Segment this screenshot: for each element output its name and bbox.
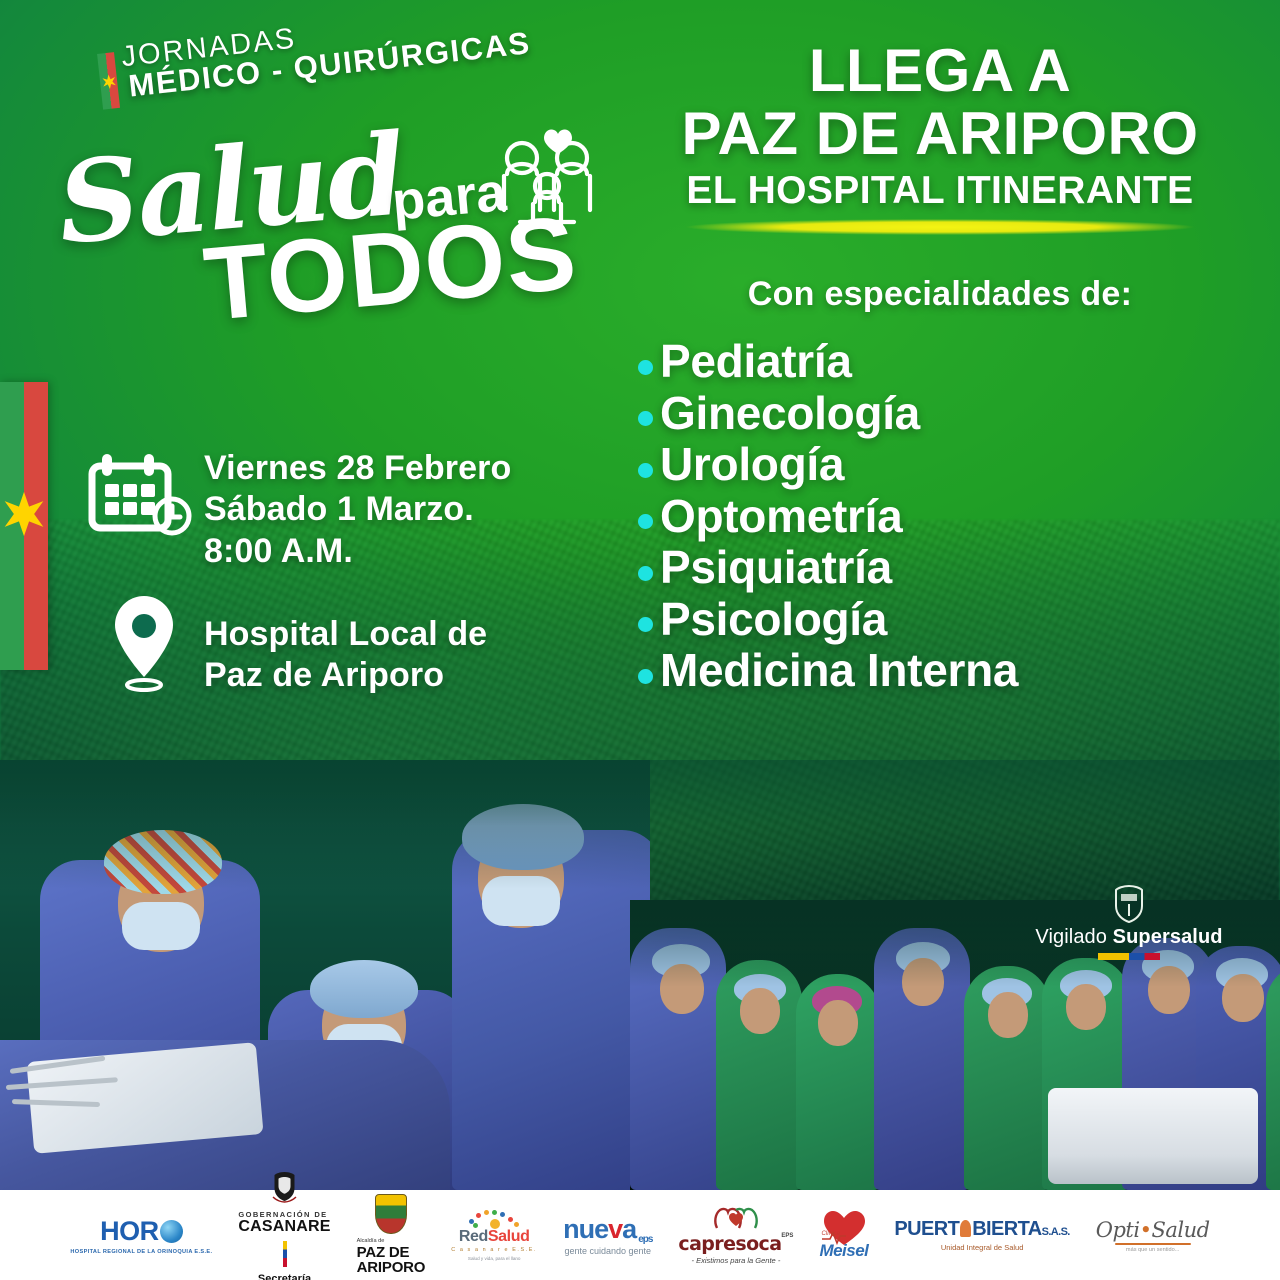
door-icon [960,1220,971,1237]
nueva-wordmark: nuevaeps [563,1214,652,1245]
logo-nueva-eps: nuevaeps gente cuidando gente [563,1214,652,1256]
location-pin-icon [84,590,204,694]
capresoca-hands-heart-icon [713,1206,759,1232]
horo-text: HOR [100,1216,159,1247]
logo-clinica-meisel: Clínica Meisel [819,1209,868,1261]
casanare-label: CASANARE [238,1219,330,1235]
colombia-divider-icon [283,1241,287,1267]
family-heart-icon [480,114,608,234]
redsalud-sub2: Salud y vida, para el llano [468,1256,521,1261]
nueva-eps-label: eps [638,1234,652,1245]
eight-point-star-small-icon [100,74,117,91]
specialty-item: Urología [632,439,1280,491]
capresoca-wordmark: capresoca [678,1233,781,1255]
logo-horo: HOR HOSPITAL REGIONAL DE LA ORINOQUIA E.… [70,1216,212,1255]
optisalud-underline [1115,1243,1191,1245]
event-place-line1: Hospital Local de [204,614,487,655]
puerta-sas: S.A.S. [1042,1226,1070,1238]
specialty-item: Medicina Interna [632,645,1280,697]
event-date-line3: 8:00 A.M. [204,531,511,572]
specialties-title: Con especialidades de: [620,275,1260,314]
casanare-crest-icon [271,1171,298,1205]
nueva-part1: nue [563,1214,608,1245]
logo-redsalud: RedSalud C a s a n a r e E.S.E. Salud y … [451,1210,537,1261]
optisalud-wordmark: Opti•Salud [1096,1218,1210,1242]
specialty-item: Psicología [632,594,1280,646]
opti-part1: Opti [1096,1218,1140,1242]
nueva-part2: a [622,1214,636,1245]
headline-line3: EL HOSPITAL ITINERANTE [620,170,1260,212]
optisalud-tagline: más que un sentido... [1126,1247,1180,1253]
headline-block: LLEGA A PAZ DE ARIPORO EL HOSPITAL ITINE… [620,40,1260,235]
colombia-coat-of-arms-icon [1112,884,1146,924]
capresoca-tagline: - Existimos para la Gente - [692,1256,781,1265]
surgery-photo [0,760,650,1190]
nueva-tagline: gente cuidando gente [564,1246,651,1256]
vigilado-strong: Supersalud [1113,926,1223,948]
logo-alcaldia-paz-de-ariporo: Alcaldía de PAZ DE ARIPORO [357,1194,426,1275]
secretaria-salud-label: Secretaría de Salud [258,1273,311,1280]
specialty-item: Optometría [632,491,1280,543]
casanare-flag-ribbon [0,382,48,670]
alcaldia-line2: ARIPORO [357,1260,426,1275]
puerta-part2: BIERTA [972,1218,1041,1241]
sponsor-logo-bar: HOR HOSPITAL REGIONAL DE LA ORINOQUIA E.… [0,1190,1280,1280]
horo-globe-icon [160,1220,183,1243]
redsalud-salud: Salud [488,1228,530,1245]
opti-dot: • [1140,1218,1152,1242]
logo-optisalud: Opti•Salud más que un sentido... [1096,1218,1210,1253]
redsalud-sub1: C a s a n a r e E.S.E. [451,1247,537,1253]
nueva-v: v [608,1214,622,1245]
specialties-list: Pediatría Ginecología Urología Optometrí… [632,336,1280,697]
event-date-text: Viernes 28 Febrero Sábado 1 Marzo. 8:00 … [204,444,511,572]
specialty-item: Pediatría [632,336,1280,388]
logo-gobernacion-casanare: GOBERNACIÓN DE CASANARE Secretaría de Sa… [238,1171,330,1280]
event-date-line2: Sábado 1 Marzo. [204,489,511,530]
puerta-part1: PUERT [894,1218,959,1241]
poster-canvas: JORNADAS MÉDICO - QUIRÚRGICAS Salud para… [0,0,1280,1280]
event-place-line2: Paz de Ariporo [204,655,487,696]
horo-subtitle: HOSPITAL REGIONAL DE LA ORINOQUIA E.S.E. [70,1249,212,1255]
vigilado-supersalud-badge: Vigilado Supersalud [1014,884,1244,960]
calendar-clock-icon [84,444,204,548]
logo-puerta-abierta: PUERTBIERTAS.A.S. Unidad Integral de Sal… [894,1218,1069,1252]
event-date-line1: Viernes 28 Febrero [204,448,511,489]
alcaldia-shield-icon [375,1194,407,1234]
colombia-flag-stripe-icon [1098,953,1160,960]
eight-point-star-icon [1,491,47,537]
meisel-clinica-label: Clínica [821,1231,839,1237]
medical-equipment [1048,1088,1258,1184]
vigilado-prefix: Vigilado [1035,926,1112,948]
secretaria-line1: Secretaría [258,1273,311,1280]
puerta-subtitle: Unidad Integral de Salud [941,1243,1024,1252]
photo-montage [0,760,1280,1190]
specialty-item: Psiquiatría [632,542,1280,594]
logo-capresoca: capresoca EPS - Existimos para la Gente … [678,1206,793,1265]
specialty-item: Ginecología [632,388,1280,440]
event-place-text: Hospital Local de Paz de Ariporo [204,590,487,697]
vigilado-text: Vigilado Supersalud [1014,926,1244,949]
headline-line2: PAZ DE ARIPORO [620,103,1260,165]
headline-line1: LLEGA A [620,40,1260,101]
horo-wordmark: HOR [100,1216,183,1247]
event-place-block: Hospital Local de Paz de Ariporo [84,590,624,697]
redsalud-burst-icon [467,1210,521,1228]
puertabierta-wordmark: PUERTBIERTAS.A.S. [894,1218,1069,1241]
event-date-block: Viernes 28 Febrero Sábado 1 Marzo. 8:00 … [84,444,624,572]
redsalud-red: Red [459,1228,488,1245]
salud-para-todos-logo: Salud para TODOS [40,118,620,328]
opti-part2: Salud [1151,1218,1209,1242]
yellow-brush-underline [685,219,1195,235]
capresoca-eps-label: EPS [781,1233,793,1239]
alcaldia-line1: PAZ DE [357,1245,426,1260]
redsalud-wordmark: RedSalud [459,1228,530,1246]
meisel-wordmark: Meisel [819,1241,868,1261]
